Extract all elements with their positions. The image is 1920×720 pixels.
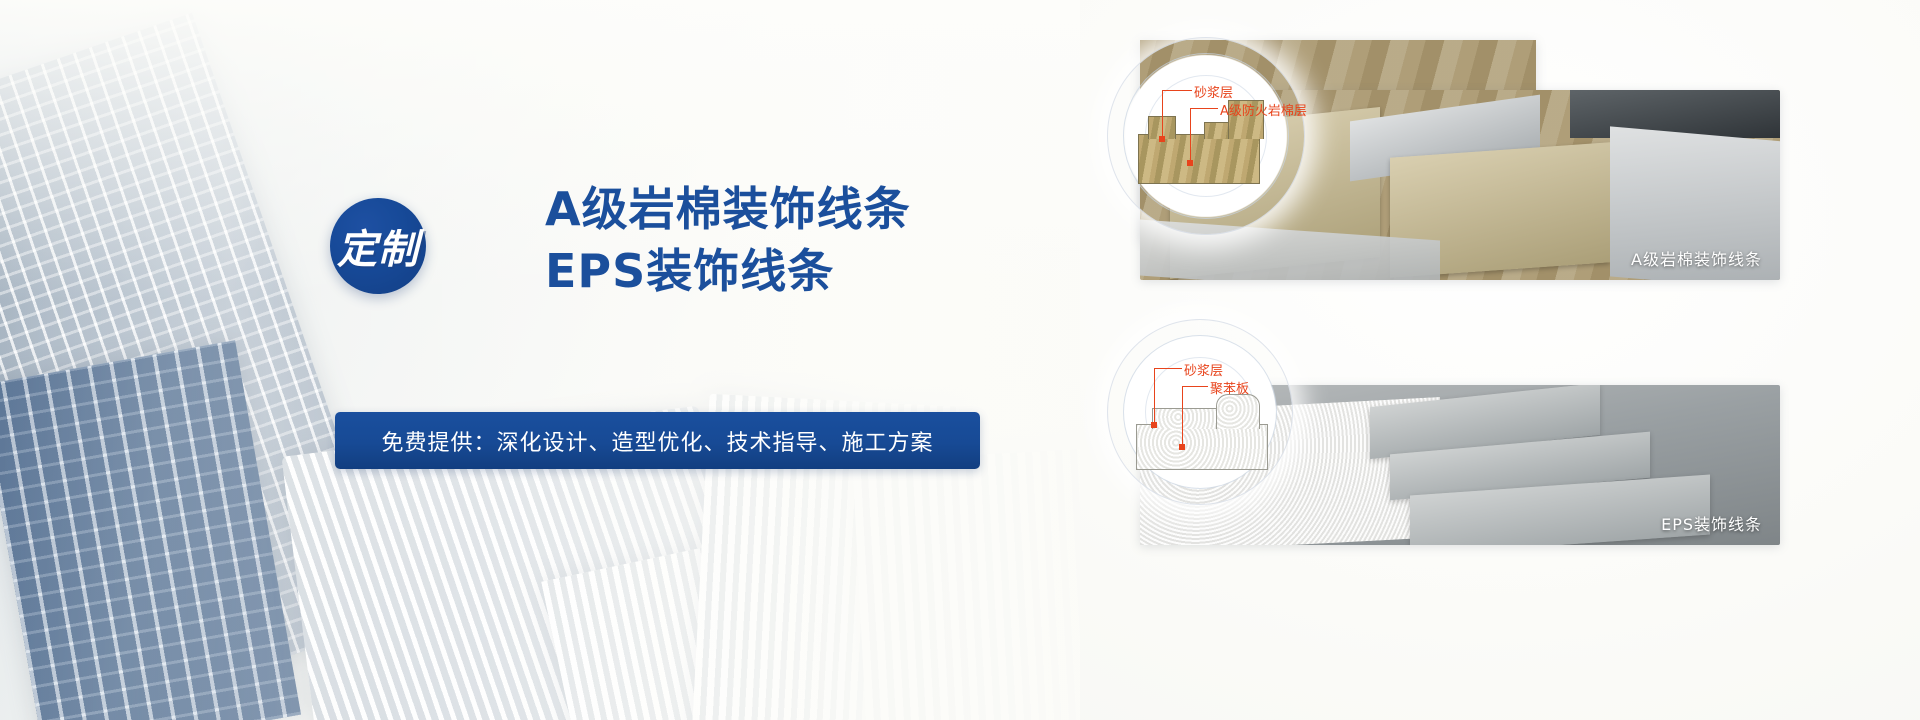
leader-line-horizontal-1 <box>1162 90 1192 91</box>
custom-badge: 定制 <box>330 198 426 294</box>
marker-dot-2 <box>1187 160 1193 166</box>
eps-caption: EPS装饰线条 <box>1661 511 1762 535</box>
rock-shadow-top <box>1570 90 1780 138</box>
custom-badge-label: 定制 <box>330 217 426 275</box>
marker-dot-3 <box>1151 422 1157 428</box>
marker-dot-1 <box>1159 136 1165 142</box>
leader-line-horizontal-3 <box>1154 368 1182 369</box>
leader-line-vertical-3 <box>1154 368 1155 426</box>
leader-line-horizontal-4 <box>1182 386 1208 387</box>
services-bar: 免费提供：深化设计、造型优化、技术指导、施工方案 <box>335 412 980 469</box>
rock-wool-cutaway: 砂浆层 A级防火岩棉层 <box>1108 38 1304 234</box>
headline: A级岩棉装饰线条 EPS装饰线条 <box>545 178 1025 302</box>
headline-line-2: EPS装饰线条 <box>545 240 1025 302</box>
cutaway-rock-body <box>1138 134 1260 184</box>
services-bar-text: 免费提供：深化设计、造型优化、技术指导、施工方案 <box>381 425 933 457</box>
eps-callout-label-2: 聚苯板 <box>1210 378 1249 397</box>
headline-line-1: A级岩棉装饰线条 <box>545 182 911 236</box>
leader-line-vertical-1 <box>1162 90 1163 142</box>
cutaway-eps-body <box>1136 424 1268 470</box>
marker-dot-4 <box>1179 444 1185 450</box>
copy-block: 定制 A级岩棉装饰线条 EPS装饰线条 免费提供：深化设计、造型优化、技术指导、… <box>0 0 1060 720</box>
promo-banner: 定制 A级岩棉装饰线条 EPS装饰线条 免费提供：深化设计、造型优化、技术指导、… <box>0 0 1920 720</box>
leader-line-vertical-4 <box>1182 386 1183 448</box>
leader-line-vertical-2 <box>1190 108 1191 164</box>
leader-line-horizontal-2 <box>1190 108 1218 109</box>
rock-wool-caption: A级岩棉装饰线条 <box>1631 246 1762 270</box>
cutaway-eps-bump <box>1216 394 1260 429</box>
eps-cutaway: 砂浆层 聚苯板 <box>1108 320 1292 504</box>
eps-callout-label-1: 砂浆层 <box>1184 360 1223 379</box>
rock-callout-label-2: A级防火岩棉层 <box>1220 100 1307 119</box>
rock-callout-label-1: 砂浆层 <box>1194 82 1233 101</box>
